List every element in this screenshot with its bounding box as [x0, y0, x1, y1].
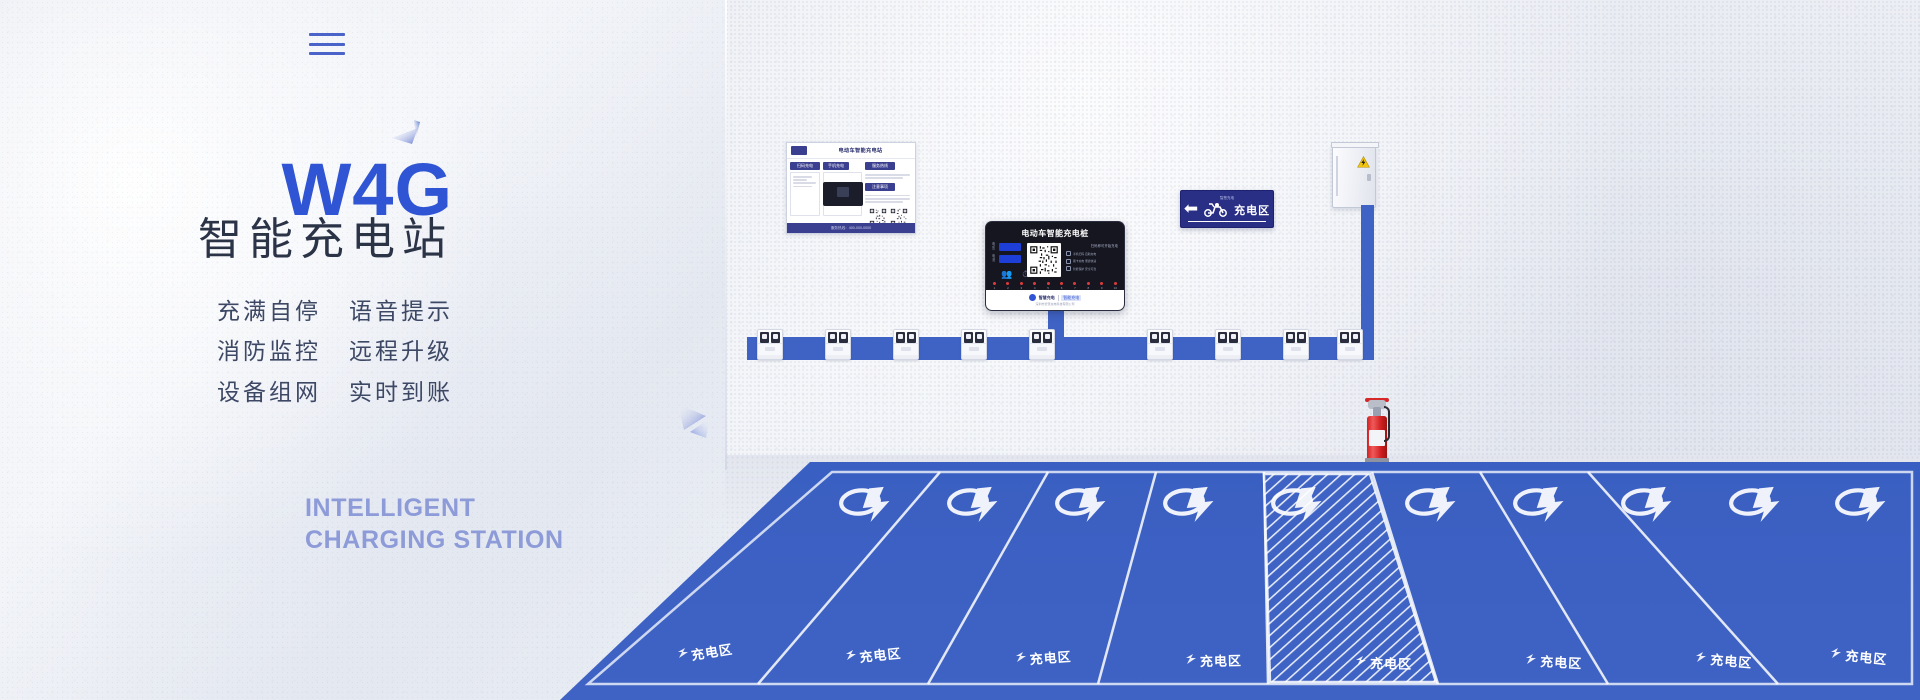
direction-sign: 智慧充电 ⬅ 充电区: [1180, 190, 1274, 228]
pile-info-item-2: 刷卡充电 便捷快速: [1066, 259, 1118, 264]
port-indicator: 3: [1020, 282, 1023, 290]
card-icon: [1066, 259, 1071, 264]
poster-logo-icon: [791, 146, 807, 155]
poster-line: [865, 201, 903, 203]
extinguisher-label: [1369, 430, 1385, 446]
poster-device-icon: [823, 182, 863, 206]
poster-line: [793, 186, 812, 188]
bay-label: 充电区: [1370, 656, 1412, 672]
pile-info-text-3: 智能保护 安全可靠: [1073, 267, 1096, 271]
charging-pile-port-row[interactable]: 1 2 3 4 5 6 7 8 9 10: [986, 280, 1124, 290]
port-indicator: 2: [1006, 282, 1009, 290]
port-indicator: 7: [1073, 282, 1076, 290]
feature-item-4: 远程升级: [349, 335, 453, 368]
poster-line: [793, 182, 816, 184]
left-arrow-icon: ⬅: [1184, 200, 1198, 217]
feature-item-1: 充满自停: [217, 295, 321, 328]
poster-tag-mid: 手机充电: [823, 162, 849, 170]
parking-lot-svg: 充电区 充电区 充电区 充电区 充电区 充电区 充电区 充电区: [560, 462, 1920, 700]
bay-label: 充电区: [1540, 654, 1583, 671]
power-socket-icon[interactable]: [1283, 329, 1309, 360]
poster-line: [793, 179, 807, 181]
port-indicator: 8: [1087, 282, 1090, 290]
display-row-voltage: 电压: [992, 243, 1022, 251]
power-socket-icon[interactable]: [825, 329, 851, 360]
bay-label: 充电区: [1029, 649, 1072, 667]
feature-item-6: 实时到账: [349, 376, 453, 409]
power-socket-icon[interactable]: [757, 329, 783, 360]
poster-line: [865, 195, 910, 197]
poster-col-mid: 手机充电: [823, 162, 862, 216]
poster-line: [865, 177, 903, 179]
english-tagline: INTELLIGENT CHARGING STATION: [305, 492, 564, 556]
rail-riser: [1361, 205, 1374, 338]
pile-footer-tag: 智能充电: [1061, 295, 1081, 301]
bay-label: 充电区: [1200, 653, 1242, 669]
english-tagline-line2: CHARGING STATION: [305, 524, 564, 556]
feature-item-2: 语音提示: [349, 295, 453, 328]
charging-pile-display: 电压 电流 👥 ⏱: [992, 243, 1022, 280]
power-socket-icon[interactable]: [1337, 329, 1363, 360]
display-label-current: 电流: [992, 255, 997, 262]
poster-line: [865, 198, 910, 200]
power-socket-icon[interactable]: [1029, 329, 1055, 360]
feature-list: 充满自停 语音提示 消防监控 远程升级 设备组网 实时到账: [217, 295, 453, 409]
divider: [1058, 295, 1059, 301]
pile-info-text-1: 手机扫码 自助充电: [1073, 252, 1096, 256]
poster-line: [865, 174, 910, 176]
fire-extinguisher-icon: [1363, 398, 1391, 463]
scooter-icon: [1203, 202, 1229, 217]
display-row-current: 电流: [992, 255, 1022, 263]
parking-lot: 充电区 充电区 充电区 充电区 充电区 充电区 充电区 充电区: [560, 462, 1920, 700]
port-indicator: 5: [1047, 282, 1050, 290]
sign-label: 充电区: [1234, 202, 1270, 218]
port-indicator: 1: [993, 282, 996, 290]
socket-rail: [747, 337, 1374, 360]
electrical-box-hinge: [1336, 156, 1338, 196]
page-subtitle: 智能充电站: [198, 216, 453, 264]
pile-info-text-2: 刷卡充电 便捷快速: [1073, 259, 1096, 263]
display-label-voltage: 电压: [992, 243, 997, 250]
poster-note-lines: [865, 193, 912, 203]
pile-footer-brand: 智慧充电: [1039, 295, 1055, 301]
display-value-voltage: [999, 243, 1021, 251]
port-indicator: 10: [1114, 282, 1117, 290]
charging-pile[interactable]: 电动车智能充电桩 电压 电流 👥 ⏱: [985, 221, 1125, 311]
feature-item-5: 设备组网: [217, 376, 321, 409]
charging-pile-info: 扫码即可开始充电 手机扫码 自助充电 刷卡充电 便捷快速 智能保护 安全可靠: [1066, 243, 1118, 280]
charging-pile-title: 电动车智能充电桩: [986, 222, 1124, 239]
electrical-box-lock: [1367, 174, 1371, 181]
poster-body: 扫码充电 手机充电 服务热线: [787, 159, 915, 219]
poster-tag-left: 扫码充电: [790, 162, 820, 170]
charging-pile-main: 电压 电流 👥 ⏱: [986, 239, 1124, 280]
poster-col-left: 扫码充电: [790, 162, 820, 216]
pile-info-item-3: 智能保护 安全可靠: [1066, 266, 1118, 271]
port-indicator: 9: [1100, 282, 1103, 290]
electrical-box-top: [1331, 142, 1379, 148]
poster-col-right: 服务热线 注意事项: [865, 162, 912, 216]
sign-content-row: ⬅ 充电区: [1184, 202, 1270, 218]
charging-pile-qr-icon[interactable]: [1027, 243, 1061, 277]
sign-underline: [1188, 221, 1266, 223]
power-socket-icon[interactable]: [1147, 329, 1173, 360]
poster-diagram-left: [790, 172, 820, 216]
sign-brand-label: 智慧充电: [1220, 196, 1234, 201]
port-indicator: 4: [1033, 282, 1036, 290]
charging-pile-body: 电动车智能充电桩 电压 电流 👥 ⏱: [985, 221, 1125, 311]
poster-line: [793, 176, 812, 178]
pile-info-tag: 扫码即可开始充电: [1066, 243, 1118, 248]
power-socket-icon[interactable]: [1215, 329, 1241, 360]
wall-corner-edge: [725, 0, 727, 470]
display-value-current: [999, 255, 1021, 263]
background-wall: [725, 0, 1920, 470]
user-group-icon: 👥: [1001, 269, 1012, 280]
poster-section-title: 注意事项: [865, 183, 895, 191]
electrical-distribution-box: [1332, 145, 1376, 208]
pile-info-item-1: 手机扫码 自助充电: [1066, 251, 1118, 256]
pile-user-icons: 👥 ⏱: [992, 267, 1022, 280]
banner-stage: W4G 智能充电站 充满自停 语音提示 消防监控 远程升级 设备组网 实时到账 …: [0, 0, 1920, 700]
power-socket-icon[interactable]: [961, 329, 987, 360]
feature-item-3: 消防监控: [217, 335, 321, 368]
poster-tag-right: 服务热线: [865, 162, 895, 170]
poster-title: 电动车智能充电站: [810, 147, 911, 154]
poster-header: 电动车智能充电站: [787, 143, 915, 159]
poster-footer: 服务热线：400-000-0000: [787, 223, 915, 233]
shield-icon: [1066, 266, 1071, 271]
wall-poster: 电动车智能充电站 扫码充电 手机充电: [786, 142, 916, 234]
poster-notes: [865, 172, 912, 179]
port-indicator: 6: [1060, 282, 1063, 290]
extinguisher-hose: [1384, 406, 1390, 442]
phone-icon: [1066, 251, 1071, 256]
english-tagline-line1: INTELLIGENT: [305, 492, 564, 524]
pile-footer-company: 深圳市智慧充电科技有限公司: [1035, 302, 1074, 306]
power-socket-icon[interactable]: [893, 329, 919, 360]
brand-logo-icon: [1029, 294, 1036, 301]
poster-device-illustration: [823, 172, 862, 216]
high-voltage-warning-icon: [1357, 156, 1370, 168]
charging-pile-footer: 智慧充电 智能充电 深圳市智慧充电科技有限公司: [986, 290, 1124, 310]
